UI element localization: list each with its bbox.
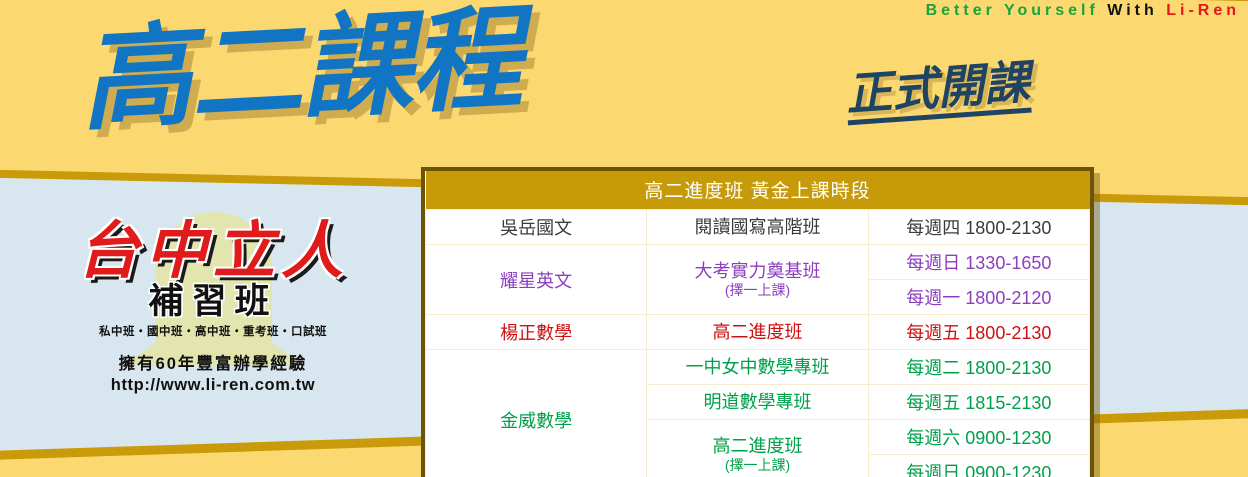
- course-name: 高二進度班: [647, 436, 867, 457]
- cell-teacher: 吳岳國文: [426, 210, 647, 245]
- tagline: Better Yourself With Li-Ren: [640, 2, 1240, 26]
- cell-course: 閱讀國寫高階班: [647, 210, 868, 245]
- cell-teacher: 金威數學: [426, 350, 647, 477]
- course-name: 高二進度班: [647, 322, 867, 343]
- logo-website-url[interactable]: http://www.li-ren.com.tw: [48, 376, 378, 395]
- logo-brand-name: 台中立人: [48, 206, 378, 282]
- cell-teacher: 楊正數學: [426, 315, 647, 350]
- cell-course: 高二進度班: [647, 315, 868, 350]
- cell-time: 每週四 1800-2130: [868, 210, 1089, 245]
- cell-teacher: 耀星英文: [426, 245, 647, 315]
- course-name: 大考實力奠基班: [647, 261, 867, 282]
- schedule-table-head: 高二進度班 黃金上課時段: [426, 171, 1090, 210]
- table-row: 金威數學一中女中數學專班每週二 1800-2130: [426, 350, 1090, 385]
- cell-course: 明道數學專班: [647, 385, 868, 420]
- cell-course: 高二進度班(擇一上課): [647, 420, 868, 477]
- cell-course: 大考實力奠基班(擇一上課): [647, 245, 868, 315]
- cell-time: 每週日 1330-1650: [868, 245, 1089, 280]
- table-row: 楊正數學高二進度班每週五 1800-2130: [426, 315, 1090, 350]
- table-header-title: 高二進度班 黃金上課時段: [426, 171, 1090, 210]
- course-name: 一中女中數學專班: [647, 357, 867, 378]
- cell-time: 每週六 0900-1230: [868, 420, 1089, 455]
- page-title: 高二課程: [77, 3, 522, 138]
- logo-brand-type: 補習班: [48, 284, 378, 319]
- logo-class-list: 私中班・國中班・高中班・重考班・口試班: [48, 323, 378, 339]
- table-row: 耀星英文大考實力奠基班(擇一上課)每週日 1330-1650: [426, 245, 1090, 280]
- cell-time: 每週一 1800-2120: [868, 280, 1089, 315]
- table-row: 吳岳國文閱讀國寫高階班每週四 1800-2130: [426, 210, 1090, 245]
- course-name: 明道數學專班: [647, 392, 867, 413]
- cell-course: 一中女中數學專班: [647, 350, 868, 385]
- poster-canvas: Better Yourself With Li-Ren 高二課程 正式開課 台中…: [0, 0, 1248, 477]
- cell-time: 每週日 0900-1230: [868, 455, 1089, 477]
- schedule-table-body: 吳岳國文閱讀國寫高階班每週四 1800-2130耀星英文大考實力奠基班(擇一上課…: [426, 210, 1090, 477]
- cell-time: 每週五 1800-2130: [868, 315, 1089, 350]
- page-title-text: 高二課程: [77, 3, 522, 138]
- cell-time: 每週五 1815-2130: [868, 385, 1089, 420]
- schedule-table: 高二進度班 黃金上課時段 吳岳國文閱讀國寫高階班每週四 1800-2130耀星英…: [425, 171, 1090, 477]
- course-note: (擇一上課): [647, 282, 867, 298]
- tagline-part-green: Better Yourself: [926, 2, 1108, 19]
- schedule-table-container: 高二進度班 黃金上課時段 吳岳國文閱讀國寫高階班每週四 1800-2130耀星英…: [421, 167, 1094, 477]
- table-header-row: 高二進度班 黃金上課時段: [426, 171, 1090, 210]
- course-note: (擇一上課): [647, 457, 867, 473]
- tagline-part-red: Li-Ren: [1166, 2, 1240, 19]
- cell-time: 每週二 1800-2130: [868, 350, 1089, 385]
- course-name: 閱讀國寫高階班: [647, 217, 867, 238]
- brand-logo: 台中立人 補習班 私中班・國中班・高中班・重考班・口試班 擁有60年豐富辦學經驗…: [48, 206, 378, 421]
- logo-experience: 擁有60年豐富辦學經驗: [48, 350, 378, 374]
- tagline-part-black: With: [1107, 2, 1166, 19]
